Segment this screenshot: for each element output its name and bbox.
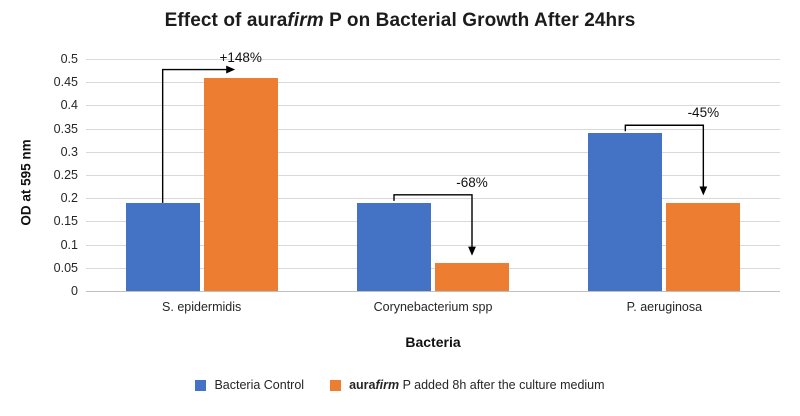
legend-swatch-icon-control	[195, 380, 206, 391]
x-axis-title: Bacteria	[86, 334, 780, 350]
y-axis-tick-label: 0.5	[32, 53, 78, 66]
x-axis-category-label: P. aeruginosa	[564, 300, 764, 314]
legend-label-treated-post: P added 8h after the culture medium	[399, 378, 604, 392]
y-axis-tick-label: 0.15	[32, 215, 78, 228]
legend-label-treated-italic: firm	[375, 378, 399, 392]
bar-control[interactable]	[357, 203, 431, 291]
y-axis-tick-label: 0.3	[32, 146, 78, 159]
annotation-label: -68%	[427, 175, 517, 190]
bar-control[interactable]	[126, 203, 200, 291]
gridline	[86, 152, 780, 153]
legend-item-control[interactable]: Bacteria Control	[195, 378, 304, 392]
y-axis-tick-label: 0.1	[32, 239, 78, 252]
y-axis-tick-label: 0.4	[32, 99, 78, 112]
y-axis-tick-label: 0.35	[32, 123, 78, 136]
bar-treated[interactable]	[435, 263, 509, 291]
legend-label-control: Bacteria Control	[214, 378, 304, 392]
bar-control[interactable]	[588, 133, 662, 291]
x-axis-category-label: Corynebacterium spp	[333, 300, 533, 314]
chart-title-pre: Effect of aura	[165, 10, 288, 31]
y-axis-tick-label: 0	[32, 285, 78, 298]
annotation-label: +148%	[196, 50, 286, 65]
gridline	[86, 59, 780, 60]
chart-legend: Bacteria Control aurafirm P added 8h aft…	[0, 378, 800, 392]
gridline	[86, 129, 780, 130]
y-axis-tick-label: 0.05	[32, 262, 78, 275]
bar-chart: Effect of aurafirm P on Bacterial Growth…	[0, 0, 800, 416]
gridline	[86, 291, 780, 292]
chart-title-italic: firm	[287, 10, 323, 31]
legend-item-treated[interactable]: aurafirm P added 8h after the culture me…	[330, 378, 604, 392]
y-axis-tick-label: 0.45	[32, 76, 78, 89]
chart-title-post: P on Bacterial Growth After 24hrs	[324, 10, 636, 31]
x-axis-category-label: S. epidermidis	[102, 300, 302, 314]
legend-swatch-icon-treated	[330, 380, 341, 391]
y-axis-tick-label: 0.2	[32, 192, 78, 205]
legend-label-treated: aurafirm P added 8h after the culture me…	[349, 378, 604, 392]
y-axis-tick-label: 0.25	[32, 169, 78, 182]
gridline	[86, 82, 780, 83]
legend-label-treated-bold: aura	[349, 378, 375, 392]
bar-treated[interactable]	[204, 78, 278, 291]
chart-title: Effect of aurafirm P on Bacterial Growth…	[0, 10, 800, 32]
annotation-label: -45%	[658, 105, 748, 120]
bar-treated[interactable]	[666, 203, 740, 291]
gridline	[86, 198, 780, 199]
